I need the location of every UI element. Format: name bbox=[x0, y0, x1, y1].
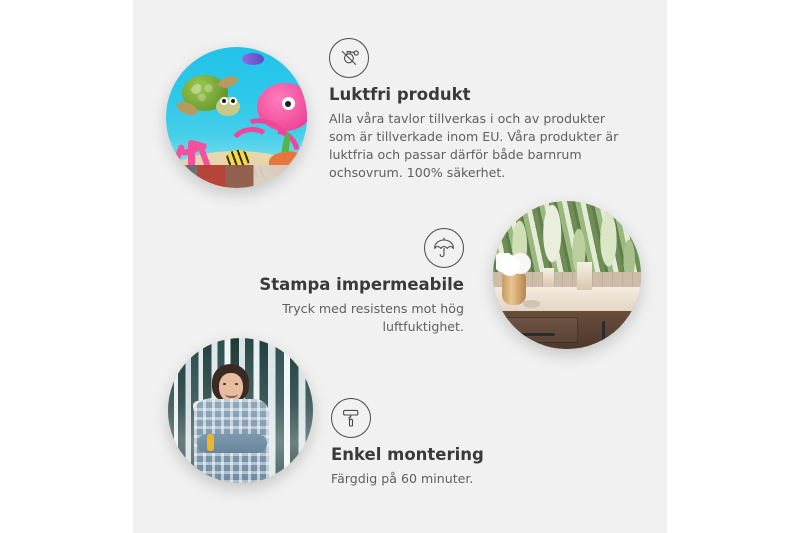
paint-roller-icon bbox=[331, 398, 371, 438]
turtle-eye bbox=[229, 97, 237, 105]
feature-description: Alla våra tavlor tillverkas i och av pro… bbox=[329, 110, 621, 183]
woman-paint-roller-photo bbox=[168, 338, 313, 483]
feature-assembly: Enkel montering Färgdig på 60 minuter. bbox=[331, 398, 611, 488]
feature-description: Färgdig på 60 minuter. bbox=[331, 470, 611, 488]
feature-title: Luktfri produkt bbox=[329, 85, 629, 106]
drawer-handle bbox=[517, 333, 555, 336]
cabinet-handle bbox=[626, 321, 629, 345]
woman-smile bbox=[225, 390, 238, 398]
paint-roller-grip bbox=[207, 434, 214, 451]
underwater-cartoon-photo bbox=[166, 47, 307, 188]
no-odour-perfume-bottle-icon bbox=[329, 38, 369, 78]
page-canvas: Luktfri produkt Alla våra tavlor tillver… bbox=[0, 0, 800, 533]
octopus-eye bbox=[282, 97, 295, 110]
soap-dish bbox=[523, 300, 541, 307]
woman-eye bbox=[223, 383, 226, 385]
bathroom-wallpaper-photo bbox=[493, 201, 641, 349]
feature-panel: Luktfri produkt Alla våra tavlor tillver… bbox=[133, 0, 667, 533]
sea-foreground-strip bbox=[166, 165, 307, 188]
soap-bottle bbox=[543, 268, 553, 287]
feature-odourless: Luktfri produkt Alla våra tavlor tillver… bbox=[329, 38, 629, 183]
feature-description: Tryck med resistens mot hög luftfuktighe… bbox=[199, 300, 464, 337]
woman-eye bbox=[235, 383, 238, 385]
purple-fish bbox=[242, 53, 264, 65]
soap-bottle bbox=[577, 262, 592, 290]
feature-title: Stampa impermeabile bbox=[199, 275, 464, 296]
turtle-eye bbox=[220, 97, 228, 105]
feature-title: Enkel montering bbox=[331, 445, 611, 466]
umbrella-icon bbox=[424, 228, 464, 268]
white-flowers bbox=[496, 253, 532, 278]
vanity-drawer bbox=[505, 317, 578, 343]
feature-waterproof: Stampa impermeabile Tryck med resistens … bbox=[199, 228, 464, 336]
